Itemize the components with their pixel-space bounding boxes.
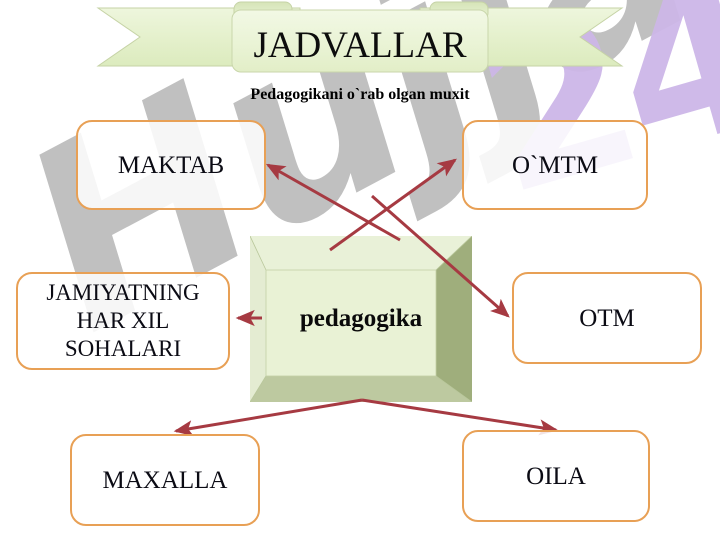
node-maxalla-label: MAXALLA [103, 466, 228, 495]
node-jamiyatning-har-xil-sohalari[interactable]: JAMIYATNING HAR XIL SOHALARI [16, 272, 230, 370]
node-maktab[interactable]: MAKTAB [76, 120, 266, 210]
node-maxalla[interactable]: MAXALLA [70, 434, 260, 526]
node-otm[interactable]: OTM [512, 272, 702, 364]
node-omtm[interactable]: O`MTM [462, 120, 648, 210]
subtitle: Pedagogikani o`rab olgan muxit [130, 86, 590, 104]
slide-canvas: Hujjat 24 [0, 0, 720, 540]
arrow-to-maktab [268, 165, 400, 240]
node-maktab-label: MAKTAB [118, 151, 224, 180]
node-otm-label: OTM [579, 304, 635, 333]
arrow-to-oila [362, 400, 556, 430]
node-oila[interactable]: OILA [462, 430, 650, 522]
node-jamiyat-label: JAMIYATNING HAR XIL SOHALARI [24, 279, 222, 363]
node-omtm-label: O`MTM [512, 151, 598, 180]
page-title: JADVALLAR [232, 22, 488, 70]
node-oila-label: OILA [526, 462, 586, 491]
center-node-label: pedagogika [250, 236, 472, 402]
arrow-to-maxalla [176, 400, 362, 431]
